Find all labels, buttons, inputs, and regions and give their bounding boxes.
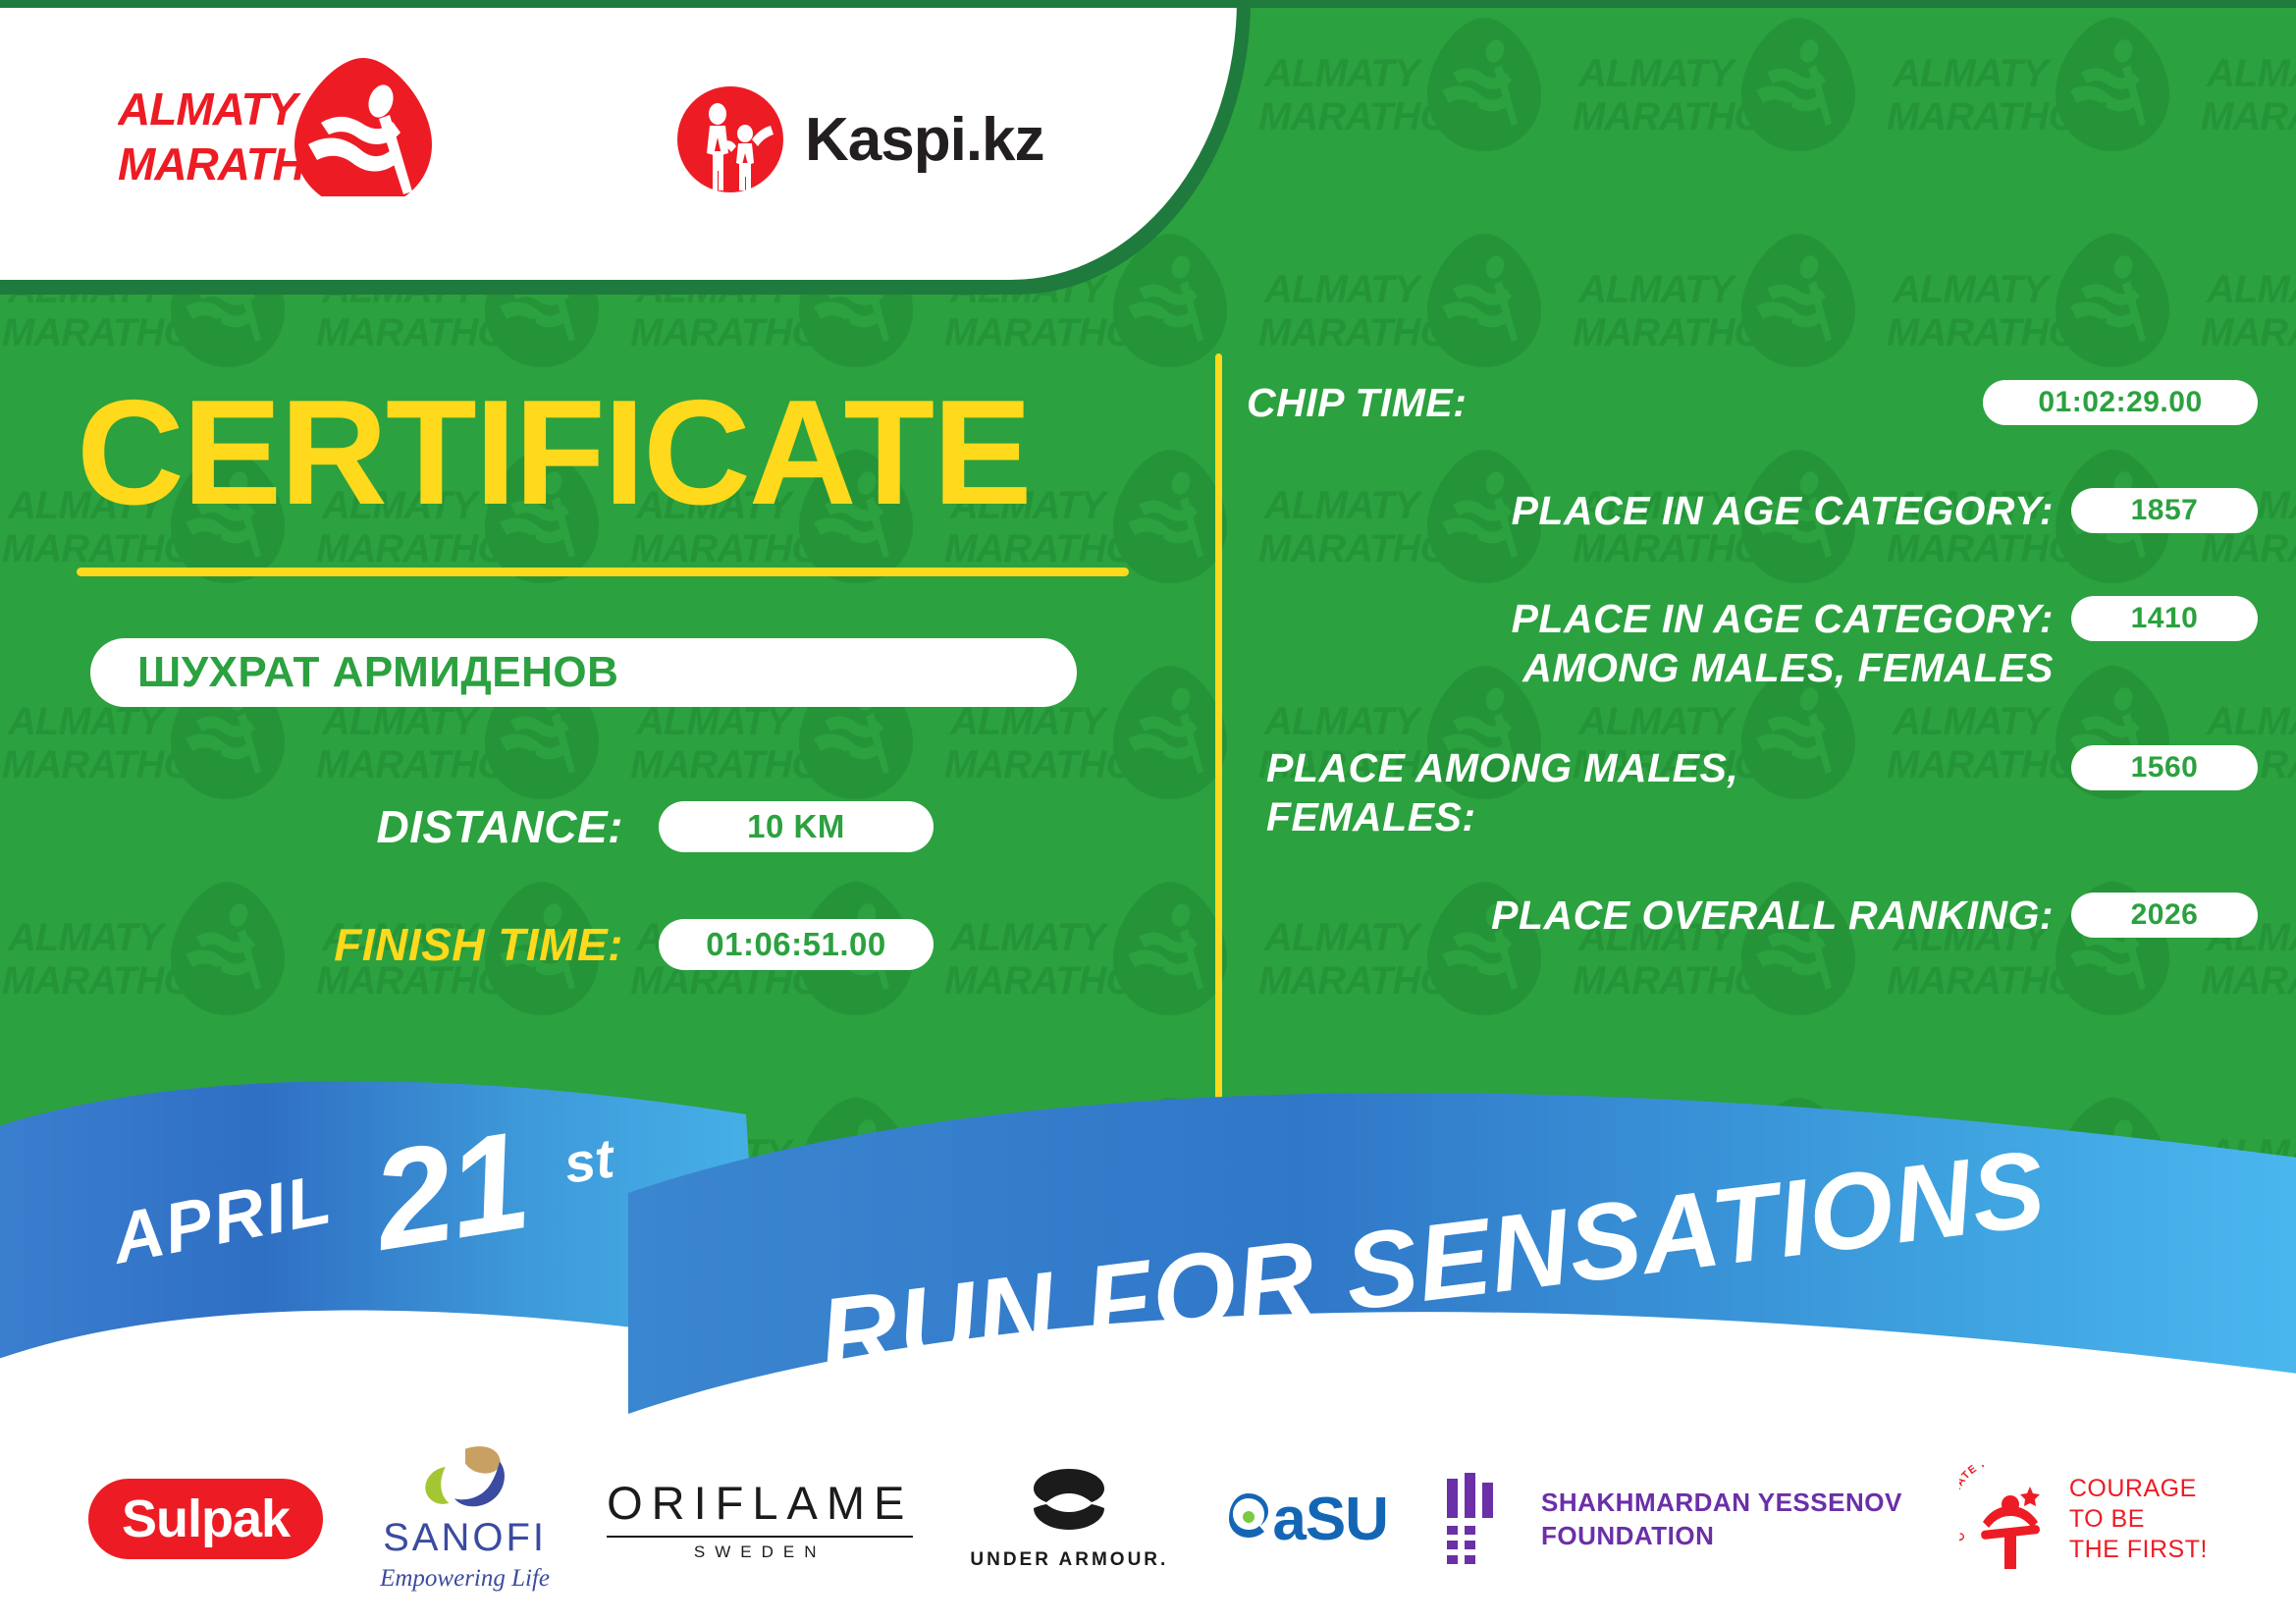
courage-line-3: THE FIRST! [2069, 1535, 2208, 1565]
stat-row-chip-time: CHIP TIME: 01:02:29.00 [1247, 378, 2258, 427]
oriflame-wordmark: ORIFLAME [607, 1476, 913, 1530]
finish-time-value-pill: 01:06:51.00 [659, 919, 934, 970]
stat-label-line-2: FEMALES: [1266, 792, 2054, 841]
sanofi-tagline: Empowering Life [380, 1565, 550, 1593]
ribbon-fold [687, 1275, 758, 1387]
sponsor-courage-fund: CORPORATE FUND COURAGE TO BE THE FIRST! [1959, 1445, 2208, 1593]
stat-value-pill-place-age-category: 1857 [2071, 488, 2258, 533]
stat-label-place-among-gender: PLACE AMONG MALES, FEMALES: [1247, 743, 2071, 841]
finish-time-value: 01:06:51.00 [706, 926, 885, 963]
courage-fund-mark-icon: CORPORATE FUND [1959, 1465, 2057, 1573]
column-divider [1215, 353, 1222, 1100]
stat-value-place-among-gender: 1560 [2131, 751, 2199, 785]
stat-value-place-age-category: 1857 [2131, 494, 2199, 527]
stat-label-place-age-category: PLACE IN AGE CATEGORY: [1247, 486, 2071, 535]
yessenov-mark-icon [1445, 1473, 1520, 1565]
courage-line-2: TO BE [2069, 1504, 2208, 1535]
stat-label-line-1: PLACE IN AGE CATEGORY: [1247, 594, 2054, 643]
stat-value-pill-place-overall: 2026 [2071, 893, 2258, 938]
sponsor-asu: aSU [1225, 1445, 1388, 1593]
finish-time-label: FINISH TIME: [270, 918, 623, 971]
stat-row-place-among-gender: PLACE AMONG MALES, FEMALES: 1560 [1247, 743, 2258, 841]
distance-row: DISTANCE: 10 KM [270, 800, 934, 853]
stat-label-place-overall: PLACE OVERALL RANKING: [1247, 891, 2071, 940]
left-column: CERTIFICATE ШУХРАТ АРМИДЕНОВ DISTANCE: 1… [0, 0, 1207, 1080]
certificate-page: ALMATY MARATHON ALMATY MARATHON [0, 0, 2296, 1624]
yessenov-logo: SHAKHMARDAN YESSENOV FOUNDATION [1445, 1473, 1902, 1565]
yessenov-wordmark: SHAKHMARDAN YESSENOV FOUNDATION [1541, 1486, 1902, 1552]
courage-line-1: COURAGE [2069, 1474, 2208, 1504]
stat-row-place-age-category: PLACE IN AGE CATEGORY: 1857 [1247, 486, 2258, 535]
stat-value-place-overall: 2026 [2131, 898, 2199, 932]
finish-time-row: FINISH TIME: 01:06:51.00 [270, 918, 934, 971]
title-underline [77, 568, 1129, 576]
sanofi-wordmark: SANOFI [383, 1516, 547, 1560]
sanofi-mark-icon [406, 1445, 524, 1512]
sulpak-logo: Sulpak [88, 1479, 323, 1559]
sponsor-bar: Sulpak SANOFI Empowering Life ORIFLAME S… [0, 1414, 2296, 1624]
distance-value-pill: 10 KM [659, 801, 934, 852]
asu-wordmark: aSU [1272, 1485, 1388, 1554]
sulpak-wordmark: Sulpak [122, 1489, 290, 1548]
under-armour-logo: UNDER ARMOUR. [970, 1467, 1168, 1571]
stat-value-chip-time: 01:02:29.00 [2038, 386, 2202, 419]
stat-value-pill-place-among-gender: 1560 [2071, 745, 2258, 790]
under-armour-wordmark: UNDER ARMOUR. [970, 1549, 1168, 1571]
oriflame-subtitle: SWEDEN [694, 1543, 827, 1562]
asu-swoosh-icon [1225, 1489, 1272, 1548]
sponsor-sulpak: Sulpak [88, 1445, 323, 1593]
participant-name-field: ШУХРАТ АРМИДЕНОВ [90, 638, 1077, 707]
courage-fund-logo: CORPORATE FUND COURAGE TO BE THE FIRST! [1959, 1465, 2208, 1573]
stat-label-chip-time: CHIP TIME: [1247, 378, 1983, 427]
under-armour-mark-icon [986, 1467, 1152, 1542]
sponsor-under-armour: UNDER ARMOUR. [970, 1445, 1168, 1593]
stat-value-pill-chip-time: 01:02:29.00 [1983, 380, 2258, 425]
stats-column: CHIP TIME: 01:02:29.00 PLACE IN AGE CATE… [1247, 378, 2258, 985]
oriflame-divider [607, 1536, 913, 1538]
sponsor-sanofi: SANOFI Empowering Life [380, 1445, 550, 1593]
oriflame-logo: ORIFLAME SWEDEN [607, 1476, 913, 1562]
sponsor-yessenov-foundation: SHAKHMARDAN YESSENOV FOUNDATION [1445, 1445, 1902, 1593]
page-title: CERTIFICATE [77, 378, 1031, 527]
stat-row-place-age-category-gender: PLACE IN AGE CATEGORY: AMONG MALES, FEMA… [1247, 594, 2258, 692]
stat-value-pill-place-age-category-gender: 1410 [2071, 596, 2258, 641]
sponsor-oriflame: ORIFLAME SWEDEN [607, 1445, 913, 1593]
courage-wordmark: COURAGE TO BE THE FIRST! [2069, 1474, 2208, 1565]
yessenov-line-1: SHAKHMARDAN YESSENOV [1541, 1486, 1902, 1519]
stat-value-place-age-category-gender: 1410 [2131, 602, 2199, 635]
distance-value: 10 KM [747, 808, 845, 845]
stat-label-line-2: AMONG MALES, FEMALES [1247, 643, 2054, 692]
stat-label-place-age-category-gender: PLACE IN AGE CATEGORY: AMONG MALES, FEMA… [1247, 594, 2071, 692]
participant-name: ШУХРАТ АРМИДЕНОВ [137, 648, 618, 697]
stat-label-line-1: PLACE AMONG MALES, [1266, 743, 2054, 792]
distance-label: DISTANCE: [270, 800, 623, 853]
yessenov-line-2: FOUNDATION [1541, 1519, 1902, 1552]
stat-row-place-overall: PLACE OVERALL RANKING: 2026 [1247, 891, 2258, 940]
